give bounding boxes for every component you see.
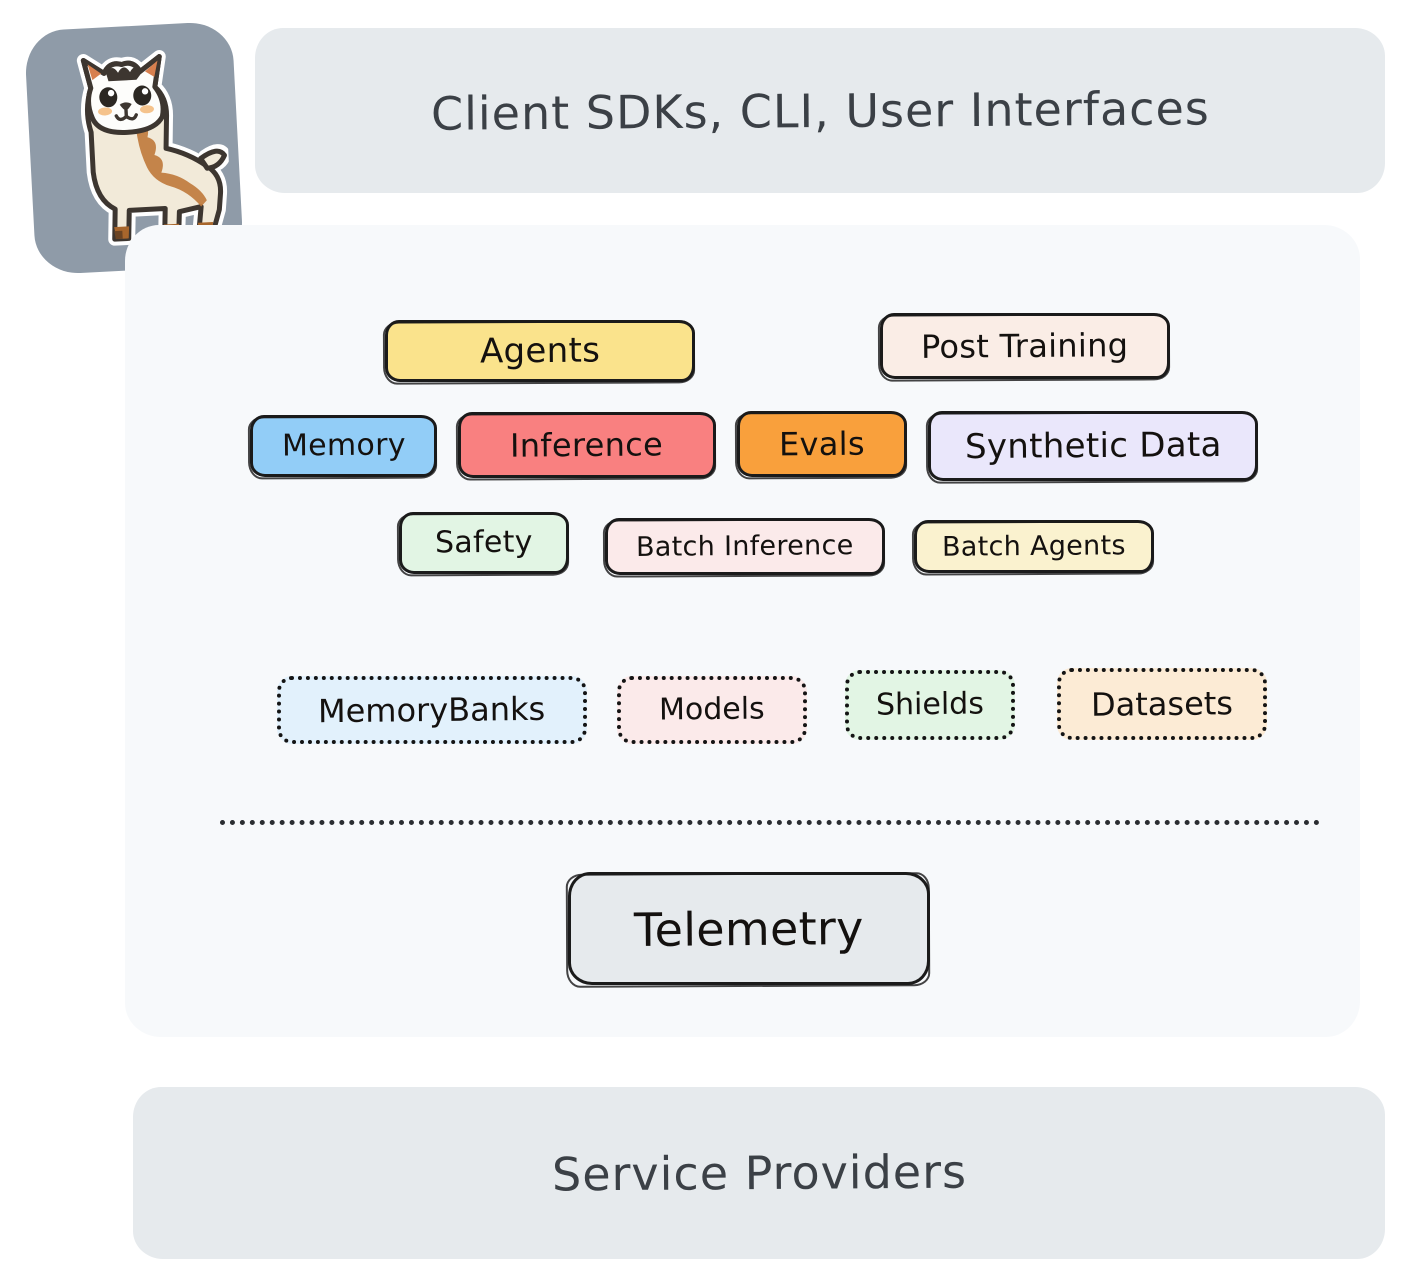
telemetry-label: Telemetry xyxy=(634,904,864,952)
api-box-batch-inference[interactable]: Batch Inference xyxy=(605,518,885,575)
api-box-label: Synthetic Data xyxy=(964,428,1221,464)
resource-box-label: Shields xyxy=(876,689,984,720)
section-divider xyxy=(220,820,1320,825)
api-box-label: Post Training xyxy=(921,329,1129,363)
resource-box-models[interactable]: Models xyxy=(617,676,807,744)
header-band: Client SDKs, CLI, User Interfaces xyxy=(255,28,1385,193)
api-box-label: Memory xyxy=(281,430,405,461)
resource-box-label: Models xyxy=(659,694,765,725)
api-box-agents[interactable]: Agents xyxy=(385,320,695,382)
resource-box-label: Datasets xyxy=(1091,687,1233,720)
api-box-safety[interactable]: Safety xyxy=(399,512,569,574)
api-box-label: Batch Inference xyxy=(636,532,854,561)
api-box-inference[interactable]: Inference xyxy=(458,412,716,478)
api-box-label: Inference xyxy=(510,428,663,461)
resource-box-datasets[interactable]: Datasets xyxy=(1057,668,1267,740)
resource-box-shields[interactable]: Shields xyxy=(845,670,1015,740)
api-box-synthetic-data[interactable]: Synthetic Data xyxy=(928,411,1258,481)
api-box-post-training[interactable]: Post Training xyxy=(880,313,1170,379)
resource-box-memory-banks[interactable]: MemoryBanks xyxy=(277,676,587,744)
footer-title: Service Providers xyxy=(551,1145,966,1202)
api-box-label: Safety xyxy=(435,528,533,559)
resource-box-label: MemoryBanks xyxy=(318,693,546,727)
api-box-evals[interactable]: Evals xyxy=(737,411,907,477)
api-box-label: Evals xyxy=(779,428,865,461)
telemetry-box[interactable]: Telemetry xyxy=(568,872,930,985)
header-title: Client SDKs, CLI, User Interfaces xyxy=(430,81,1209,140)
api-box-batch-agents[interactable]: Batch Agents xyxy=(914,520,1154,573)
api-box-label: Agents xyxy=(480,333,600,368)
service-providers-band: Service Providers xyxy=(133,1087,1385,1259)
api-box-label: Batch Agents xyxy=(942,532,1126,561)
api-box-memory[interactable]: Memory xyxy=(250,415,437,477)
